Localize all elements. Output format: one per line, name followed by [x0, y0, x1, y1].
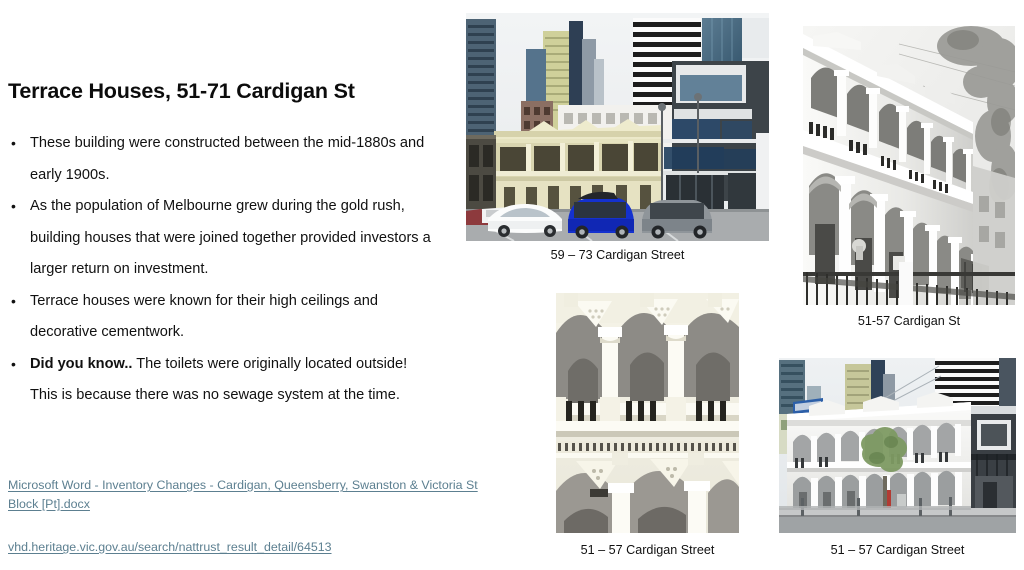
list-item-text: As the population of Melbourne grew duri…: [30, 198, 431, 277]
list-item: • These building were constructed betwee…: [8, 128, 438, 191]
source-document-link[interactable]: Microsoft Word - Inventory Changes - Car…: [8, 476, 496, 514]
bullet-dot-icon: •: [11, 191, 16, 223]
list-item-lead-bold: Did you know..: [30, 356, 132, 372]
heritage-database-link[interactable]: vhd.heritage.vic.gov.au/search/nattrust_…: [8, 538, 428, 557]
photo-caption-cardigan-51-57-detail: 51 – 57 Cardigan Street: [545, 543, 750, 557]
photo-cardigan-51-57-colour: [779, 358, 1016, 533]
photo-cardigan-51-57-detail: [556, 293, 739, 533]
photo-caption-cardigan-51-57-bw: 51-57 Cardigan St: [803, 314, 1015, 328]
photo-cardigan-51-57-bw: [803, 26, 1015, 305]
page-title: Terrace Houses, 51-71 Cardigan St: [8, 79, 448, 104]
list-item-did-you-know: • Did you know.. The toilets were origin…: [8, 349, 438, 412]
bullet-dot-icon: •: [11, 349, 16, 381]
list-item-text: These building were constructed between …: [30, 135, 424, 183]
photo-caption-cardigan-51-57-colour: 51 – 57 Cardigan Street: [775, 543, 1020, 557]
list-item: • As the population of Melbourne grew du…: [8, 191, 438, 286]
photo-caption-cardigan-59-73: 59 – 73 Cardigan Street: [466, 248, 769, 262]
photo-cardigan-59-73: [466, 13, 769, 241]
bullet-dot-icon: •: [11, 286, 16, 318]
text-content-column: Terrace Houses, 51-71 Cardigan St • Thes…: [0, 0, 452, 570]
list-item-text: Terrace houses were known for their high…: [30, 293, 378, 341]
bullet-dot-icon: •: [11, 128, 16, 160]
list-item: • Terrace houses were known for their hi…: [8, 286, 438, 349]
bullet-list: • These building were constructed betwee…: [8, 128, 438, 412]
